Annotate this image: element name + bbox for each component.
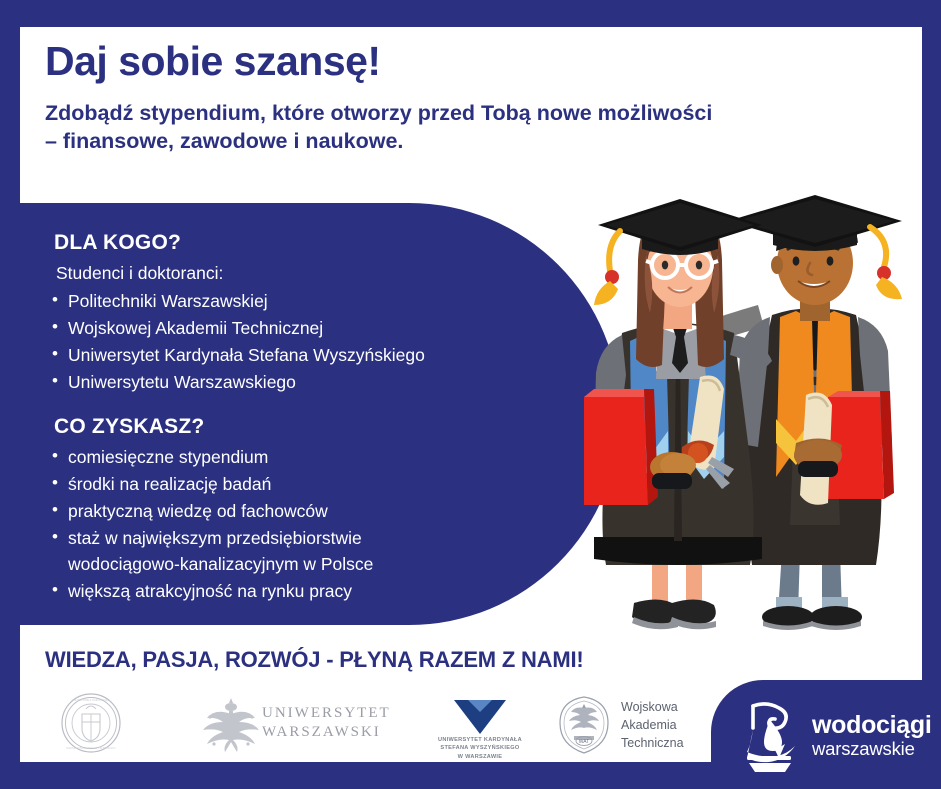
list-item: Uniwersytet Kardynała Stefana Wyszyńskie…	[50, 343, 600, 368]
tagline: WIEDZA, PASJA, ROZWÓJ - PŁYNĄ RAZEM Z NA…	[45, 647, 584, 673]
list-item: większą atrakcyjność na rynku pracy	[50, 579, 600, 604]
wat-crest-icon: WAT	[555, 694, 613, 756]
list-item: comiesięczne stypendium	[50, 445, 600, 470]
wodociagi-corner-badge: wodociągi warszawskie	[711, 680, 941, 789]
wodociagi-line-2: warszawskie	[812, 740, 932, 759]
list-dla-kogo: Politechniki Warszawskiej Wojskowej Akad…	[48, 289, 600, 395]
wat-mark-text: WAT	[579, 739, 590, 745]
uw-line-1: UNIWERSYTET	[262, 704, 391, 723]
section-heading-co-zyskasz: CO ZYSKASZ?	[54, 415, 600, 439]
uksw-line-1: UNIWERSYTET KARDYNAŁA	[420, 736, 540, 744]
page-subtitle: Zdobądź stypendium, które otworzy przed …	[45, 99, 845, 156]
uw-wordmark: UNIWERSYTET WARSZAWSKI	[262, 704, 391, 742]
header: Daj sobie szansę! Zdobądź stypendium, kt…	[45, 40, 875, 156]
wat-wordmark: Wojskowa Akademia Techniczna	[621, 698, 684, 752]
list-item-label: większą atrakcyjność na rynku pracy	[68, 579, 600, 604]
graduates-illustration	[560, 165, 922, 630]
wat-line-1: Wojskowa	[621, 698, 684, 716]
list-item-label: staż w największym przedsiębiorstwie	[68, 526, 600, 551]
subtitle-line-2: – finansowe, zawodowe i naukowe.	[45, 129, 403, 153]
list-item: staż w największym przedsiębiorstwie wod…	[50, 526, 600, 576]
list-item-label: Uniwersytetu Warszawskiego	[68, 370, 600, 395]
wat-line-3: Techniczna	[621, 734, 684, 752]
uksw-line-3: W WARSZAWIE	[420, 753, 540, 761]
partner-logos: POLITECHNIKA WARSZAWSKA WARSAW UNIVERSIT…	[45, 688, 705, 768]
svg-text:POLITECHNIKA WARSZAWSKA: POLITECHNIKA WARSZAWSKA	[72, 699, 110, 702]
wodociagi-wordmark: wodociągi warszawskie	[812, 713, 932, 759]
content-sections: DLA KOGO? Studenci i doktoranci: Politec…	[20, 203, 600, 625]
list-item-label: Uniwersytet Kardynała Stefana Wyszyńskie…	[68, 343, 600, 368]
water-jug-icon	[741, 700, 803, 772]
poster-root: Daj sobie szansę! Zdobądź stypendium, kt…	[0, 0, 941, 789]
page-title: Daj sobie szansę!	[45, 40, 875, 83]
list-item: Wojskowej Akademii Technicznej	[50, 316, 600, 341]
uksw-line-2: STEFANA WYSZYŃSKIEGO	[420, 744, 540, 752]
svg-text:WARSAW UNIVERSITY OF TECHNOLOG: WARSAW UNIVERSITY OF TECHNOLOGY	[66, 747, 116, 750]
list-item-label: Wojskowej Akademii Technicznej	[68, 316, 600, 341]
list-item-label-cont: wodociągowo-kanalizacyjnym w Polsce	[68, 552, 600, 577]
uw-line-2: WARSZAWSKI	[262, 723, 391, 742]
list-item-label: Politechniki Warszawskiej	[68, 289, 600, 314]
logo-wat: WAT Wojskowa Akademia Techniczna	[555, 694, 684, 756]
list-item-label: comiesięczne stypendium	[68, 445, 600, 470]
list-item: Politechniki Warszawskiej	[50, 289, 600, 314]
list-item: środki na realizację badań	[50, 472, 600, 497]
wodociagi-line-1: wodociągi	[812, 713, 932, 738]
wat-line-2: Akademia	[621, 716, 684, 734]
uksw-mark-icon	[420, 694, 540, 734]
list-item-label: praktyczną wiedzę od fachowców	[68, 499, 600, 524]
logo-uniwersytet-warszawski: UNIWERSYTET WARSZAWSKI	[200, 694, 391, 752]
section-heading-dla-kogo: DLA KOGO?	[54, 231, 600, 255]
uw-eagle-icon	[200, 694, 262, 752]
logo-uksw: UNIWERSYTET KARDYNAŁA STEFANA WYSZYŃSKIE…	[420, 694, 540, 761]
logo-politechnika-warszawska: POLITECHNIKA WARSZAWSKA WARSAW UNIVERSIT…	[60, 692, 122, 754]
wodociagi-logo: wodociągi warszawskie	[741, 700, 932, 772]
list-item: praktyczną wiedzę od fachowców	[50, 499, 600, 524]
subtitle-line-1: Zdobądź stypendium, które otworzy przed …	[45, 101, 712, 125]
uksw-caption: UNIWERSYTET KARDYNAŁA STEFANA WYSZYŃSKIE…	[420, 736, 540, 761]
list-co-zyskasz: comiesięczne stypendium środki na realiz…	[48, 445, 600, 603]
pw-seal-icon: POLITECHNIKA WARSZAWSKA WARSAW UNIVERSIT…	[60, 692, 122, 754]
list-item-label: środki na realizację badań	[68, 472, 600, 497]
list-item: Uniwersytetu Warszawskiego	[50, 370, 600, 395]
section-lead-dla-kogo: Studenci i doktoranci:	[56, 261, 600, 286]
